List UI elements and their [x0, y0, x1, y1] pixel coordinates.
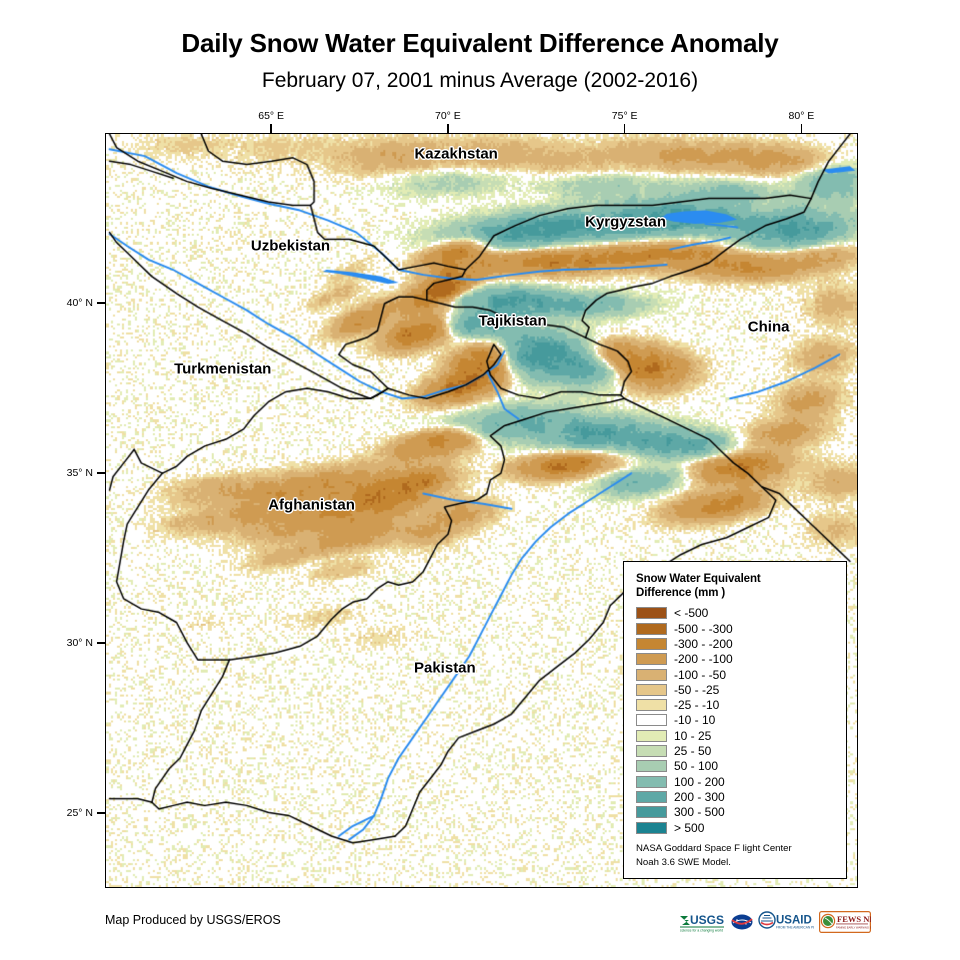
- longitude-tick-label: 70° E: [435, 110, 461, 122]
- legend-credit-line1: NASA Goddard Space F light Center: [636, 842, 837, 856]
- svg-text:FAMINE EARLY WARNING SYSTEMS N: FAMINE EARLY WARNING SYSTEMS NETWORK: [836, 926, 871, 930]
- legend-swatch: [636, 745, 667, 757]
- country-label-turkmenistan: Turkmenistan: [174, 360, 271, 377]
- country-label-kyrgyzstan: Kyrgyzstan: [585, 213, 666, 230]
- latitude-tick-label: 25° N: [67, 807, 93, 819]
- country-label-kazakhstan: Kazakhstan: [414, 146, 497, 163]
- legend-title-line1: Snow Water Equivalent: [636, 572, 837, 586]
- legend-label: -200 - -100: [674, 653, 733, 665]
- legend-label: 50 - 100: [674, 760, 718, 772]
- legend-label: -10 - 10: [674, 714, 715, 726]
- longitude-tick-label: 80° E: [789, 110, 815, 122]
- legend-row: 10 - 25: [636, 728, 837, 743]
- longitude-tick: [801, 124, 803, 133]
- legend-row: 50 - 100: [636, 759, 837, 774]
- country-label-afghanistan: Afghanistan: [268, 496, 355, 513]
- longitude-tick: [447, 124, 449, 133]
- legend-label: > 500: [674, 822, 704, 834]
- legend-label: < -500: [674, 607, 708, 619]
- legend-row: > 500: [636, 820, 837, 835]
- legend-row: 25 - 50: [636, 743, 837, 758]
- legend-credit-line2: Noah 3.6 SWE Model.: [636, 856, 837, 870]
- legend-class-list: < -500-500 - -300-300 - -200-200 - -100-…: [636, 606, 837, 835]
- legend-label: 10 - 25: [674, 730, 711, 742]
- legend-swatch: [636, 776, 667, 788]
- legend-label: 100 - 200: [674, 776, 725, 788]
- legend-row: -200 - -100: [636, 652, 837, 667]
- legend-row: -50 - -25: [636, 682, 837, 697]
- legend-title: Snow Water Equivalent Difference (mm ): [636, 572, 837, 601]
- legend-swatch: [636, 760, 667, 772]
- country-label-china: China: [748, 319, 790, 336]
- svg-text:FROM THE AMERICAN PEOPLE: FROM THE AMERICAN PEOPLE: [776, 926, 814, 930]
- legend-swatch: [636, 684, 667, 696]
- legend-row: -300 - -200: [636, 636, 837, 651]
- legend-row: 200 - 300: [636, 789, 837, 804]
- map-frame[interactable]: KazakhstanUzbekistanKyrgyzstanTajikistan…: [105, 133, 858, 888]
- legend-swatch: [636, 822, 667, 834]
- legend-credit: NASA Goddard Space F light Center Noah 3…: [636, 842, 837, 870]
- longitude-tick-label: 65° E: [258, 110, 284, 122]
- latitude-tick-label: 30° N: [67, 637, 93, 649]
- country-label-pakistan: Pakistan: [414, 659, 476, 676]
- legend-row: < -500: [636, 606, 837, 621]
- agency-logos: USGS science for a changing world USAID: [680, 909, 871, 935]
- page-title: Daily Snow Water Equivalent Difference A…: [0, 28, 960, 59]
- legend-swatch: [636, 669, 667, 681]
- usgs-logo: USGS science for a changing world: [680, 911, 726, 933]
- legend-label: -500 - -300: [674, 623, 733, 635]
- legend-row: 300 - 500: [636, 805, 837, 820]
- legend-label: 25 - 50: [674, 745, 711, 757]
- legend-row: -500 - -300: [636, 621, 837, 636]
- usaid-logo: USAID FROM THE AMERICAN PEOPLE: [758, 911, 814, 933]
- svg-text:FEWS NET: FEWS NET: [837, 914, 871, 924]
- legend-swatch: [636, 623, 667, 635]
- legend-row: -25 - -10: [636, 698, 837, 713]
- page-subtitle: February 07, 2001 minus Average (2002-20…: [0, 69, 960, 93]
- longitude-tick: [624, 124, 626, 133]
- legend-label: -50 - -25: [674, 684, 719, 696]
- svg-text:USGS: USGS: [690, 913, 724, 927]
- longitude-tick-label: 75° E: [612, 110, 638, 122]
- legend-label: 300 - 500: [674, 806, 725, 818]
- legend-row: 100 - 200: [636, 774, 837, 789]
- legend-swatch: [636, 607, 667, 619]
- legend-swatch: [636, 806, 667, 818]
- legend-row: -10 - 10: [636, 713, 837, 728]
- longitude-tick: [270, 124, 272, 133]
- footer-credit: Map Produced by USGS/EROS: [105, 913, 281, 927]
- map-legend: Snow Water Equivalent Difference (mm ) <…: [623, 561, 847, 879]
- legend-swatch: [636, 638, 667, 650]
- nasa-logo: [731, 911, 753, 933]
- legend-label: -25 - -10: [674, 699, 719, 711]
- legend-swatch: [636, 730, 667, 742]
- latitude-tick-label: 35° N: [67, 467, 93, 479]
- legend-title-line2: Difference (mm ): [636, 586, 837, 600]
- legend-label: -300 - -200: [674, 638, 733, 650]
- legend-swatch: [636, 699, 667, 711]
- legend-label: -100 - -50: [674, 669, 726, 681]
- legend-swatch: [636, 791, 667, 803]
- country-label-tajikistan: Tajikistan: [479, 313, 547, 330]
- legend-swatch: [636, 714, 667, 726]
- svg-text:science for a changing world: science for a changing world: [680, 929, 723, 933]
- legend-label: 200 - 300: [674, 791, 725, 803]
- country-label-uzbekistan: Uzbekistan: [251, 237, 330, 254]
- latitude-tick-label: 40° N: [67, 297, 93, 309]
- legend-swatch: [636, 653, 667, 665]
- fewsnet-logo: FEWS NET FAMINE EARLY WARNING SYSTEMS NE…: [819, 911, 871, 933]
- legend-row: -100 - -50: [636, 667, 837, 682]
